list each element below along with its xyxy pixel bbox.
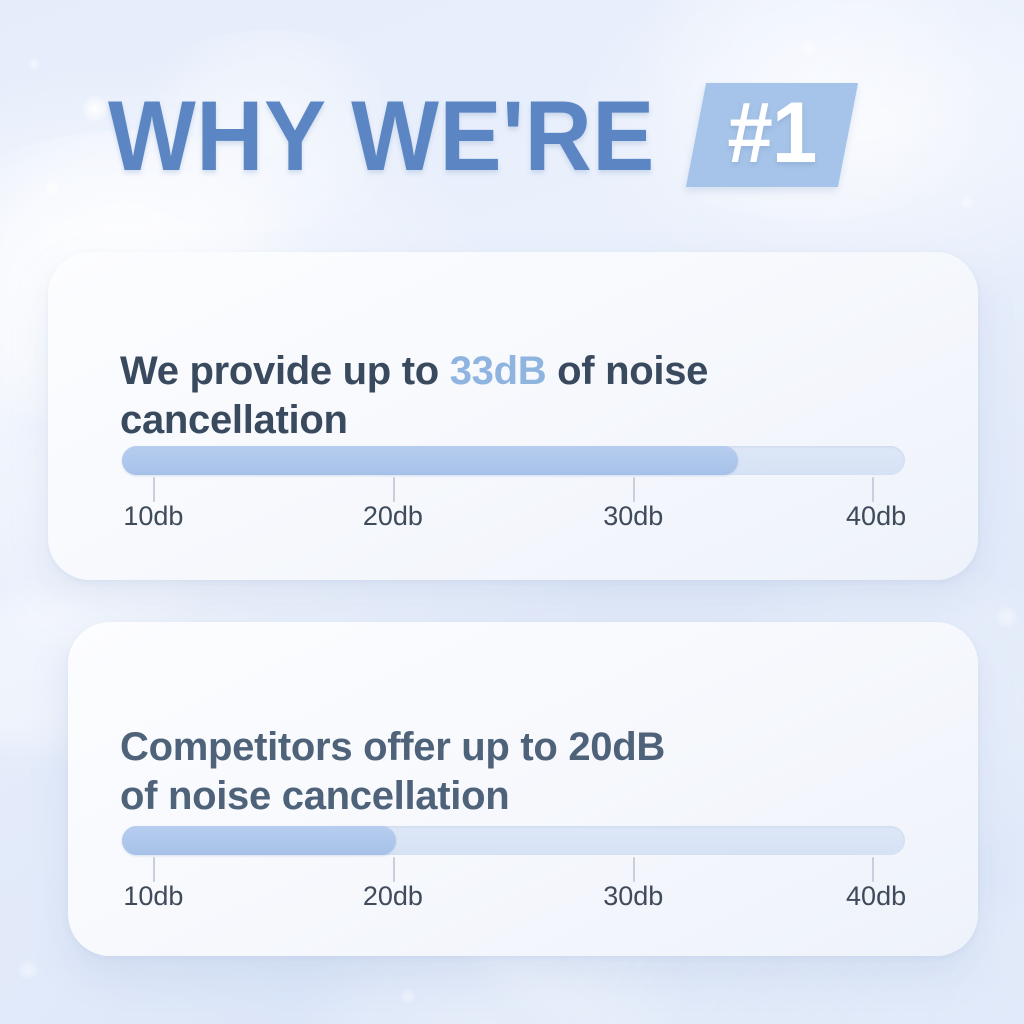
card-title-our-product: We provide up to 33dB of noise cancellat… bbox=[120, 298, 930, 444]
card-title-part-before: We provide up to bbox=[120, 349, 450, 393]
slider-fill bbox=[122, 446, 738, 475]
stat-card-competitors: Competitors offer up to 20dB of noise ca… bbox=[68, 622, 978, 956]
tick-label: 40db bbox=[846, 881, 906, 912]
bokeh-dot bbox=[18, 960, 38, 980]
bokeh-dot bbox=[150, 212, 164, 226]
tick-label: 30db bbox=[603, 881, 663, 912]
slider-fill bbox=[122, 826, 396, 855]
slider-tick-scale: 10db 20db 30db 40db bbox=[122, 855, 905, 917]
tick-mark bbox=[153, 857, 155, 882]
tick-mark bbox=[393, 857, 395, 882]
poster-canvas: WHY WE'RE #1 We provide up to 33dB of no… bbox=[0, 0, 1024, 1024]
slider-track[interactable] bbox=[122, 826, 905, 855]
page-title-text: WHY WE'RE bbox=[108, 86, 655, 185]
stat-card-our-product: We provide up to 33dB of noise cancellat… bbox=[48, 252, 978, 580]
tick-label: 20db bbox=[363, 501, 423, 532]
tick-mark bbox=[153, 477, 155, 502]
tick-mark bbox=[872, 857, 874, 882]
card-title-part-before: Competitors offer up to 20dB of noise ca… bbox=[120, 725, 665, 818]
slider-our-product[interactable]: 10db 20db 30db 40db bbox=[122, 446, 905, 537]
tick-label: 20db bbox=[363, 881, 423, 912]
bokeh-dot bbox=[996, 606, 1018, 628]
tick-mark bbox=[633, 857, 635, 882]
rank-badge: #1 bbox=[696, 83, 848, 187]
tick-label: 40db bbox=[846, 501, 906, 532]
tick-mark bbox=[872, 477, 874, 502]
tick-mark bbox=[633, 477, 635, 502]
card-title-highlight: 33dB bbox=[450, 349, 547, 393]
slider-tick-scale: 10db 20db 30db 40db bbox=[122, 475, 905, 537]
bokeh-dot bbox=[400, 988, 416, 1004]
tick-label: 10db bbox=[123, 501, 183, 532]
tick-mark bbox=[393, 477, 395, 502]
tick-label: 30db bbox=[603, 501, 663, 532]
slider-competitors[interactable]: 10db 20db 30db 40db bbox=[122, 826, 905, 917]
bokeh-dot bbox=[28, 58, 40, 70]
card-title-competitors: Competitors offer up to 20dB of noise ca… bbox=[120, 674, 930, 820]
slider-track[interactable] bbox=[122, 446, 905, 475]
bokeh-dot bbox=[960, 196, 974, 210]
bokeh-dot bbox=[800, 40, 818, 58]
rank-badge-label: #1 bbox=[727, 90, 816, 176]
bokeh-dot bbox=[82, 96, 108, 122]
bokeh-dot bbox=[44, 180, 60, 196]
tick-label: 10db bbox=[123, 881, 183, 912]
page-title: WHY WE'RE #1 bbox=[108, 82, 848, 188]
